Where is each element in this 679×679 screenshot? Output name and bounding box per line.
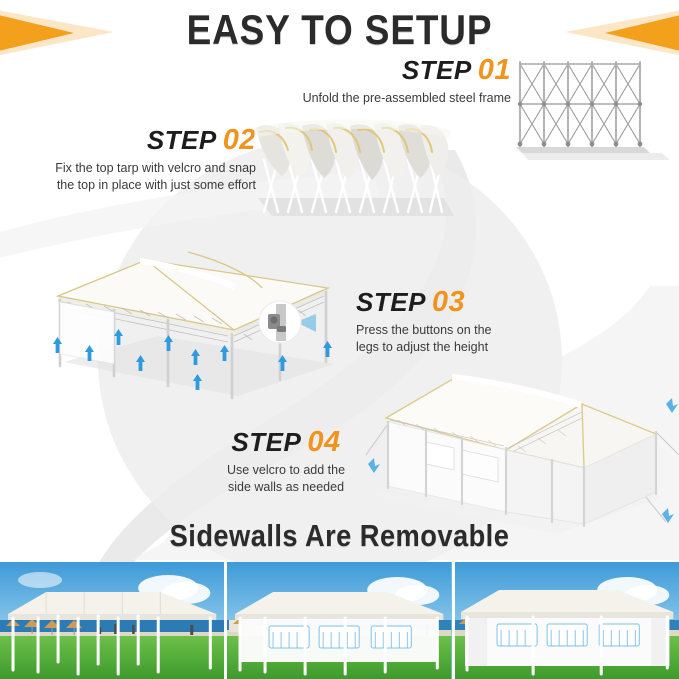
step-label-04: STEP [231,427,301,457]
step-block-01: STEP01 Unfold the pre-assembled steel fr… [251,56,511,107]
step-description-01: Unfold the pre-assembled steel frame [251,90,511,107]
infographic-canvas: EASY TO SETUP STEP01 Unfold the pre-asse… [0,0,679,679]
step-block-04: STEP04 Use velcro to add the side walls … [186,428,386,496]
illustration-canopy-with-sidewalls [366,346,679,536]
illustration-canopy-tarp-folded [248,112,458,224]
step-description-04: Use velcro to add the side walls as need… [186,462,386,496]
step-description-02: Fix the top tarp with velcro and snap th… [16,160,256,194]
photo-canopy-full-sidewalls [455,562,679,679]
step-title-03: STEP03 [356,288,576,317]
illustration-canopy-open-legs [28,244,368,404]
step-title-04: STEP04 [186,428,386,457]
step-label-01: STEP [402,55,472,85]
step-label-02: STEP [147,125,217,155]
step-block-02: STEP02 Fix the top tarp with velcro and … [16,126,256,194]
step-title-01: STEP01 [251,56,511,85]
page-headline: EASY TO SETUP [41,6,639,54]
photo-canopy-one-sidewall [227,562,451,679]
push-button-callout [259,301,316,343]
photo-strip [0,562,679,679]
step-number-04: 04 [307,426,340,458]
step-title-02: STEP02 [16,126,256,155]
illustration-steel-frame-unfolded [502,52,677,164]
photo-canopy-no-sidewalls [0,562,224,679]
page-subheadline: Sidewalls Are Removable [41,518,639,554]
step-number-03: 03 [432,286,465,318]
